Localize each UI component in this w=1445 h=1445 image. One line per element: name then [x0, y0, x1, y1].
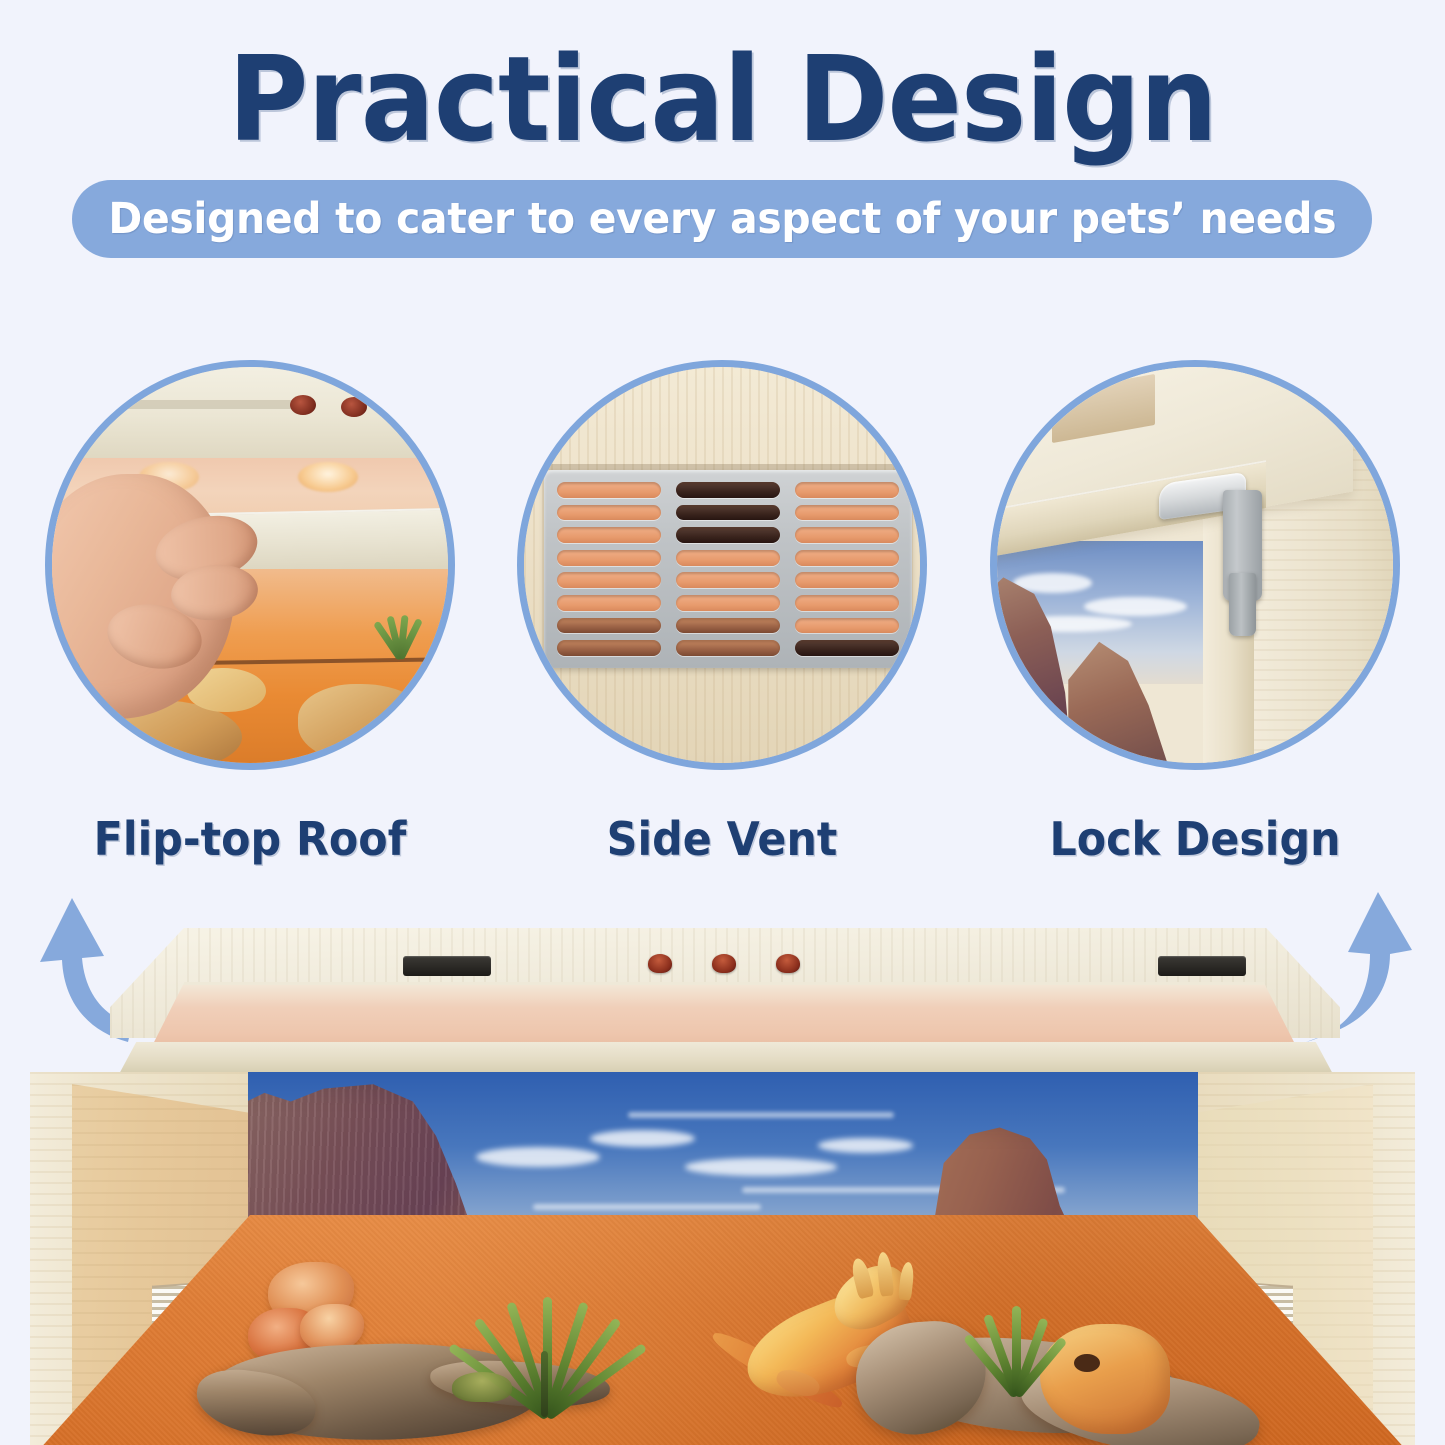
feature-circle-lock-design [990, 360, 1400, 770]
vent-plate [544, 470, 912, 668]
subtitle-text: Designed to cater to every aspect of you… [108, 194, 1336, 244]
vent-row [557, 550, 899, 566]
indicator-light [776, 954, 800, 973]
feature-circle-side-vent [517, 360, 927, 770]
lock-latch-hook [1229, 573, 1257, 636]
subtitle-banner: Designed to cater to every aspect of you… [72, 180, 1372, 258]
heat-lamp-icon [298, 462, 358, 492]
lid-top-surface [52, 367, 448, 462]
circle-frame-side-vent [517, 360, 927, 770]
circle-frame-lock-design [990, 360, 1400, 770]
feature-caption-flip-top-roof: Flip-top Roof [59, 812, 440, 866]
cloud [590, 1130, 695, 1147]
lid-hinge [1158, 956, 1246, 976]
feature-circle-flip-top-roof [45, 360, 455, 770]
cloud [685, 1158, 837, 1175]
vent-row [557, 572, 899, 588]
page-title: Practical Design [51, 38, 1395, 162]
photo-side-vent [524, 367, 920, 763]
rock-decor [298, 684, 433, 763]
infographic-page: Practical Design Designed to cater to ev… [0, 0, 1445, 1445]
cirrus-cloud [628, 1112, 894, 1118]
plant-decor [362, 589, 432, 659]
indicator-dot [341, 397, 367, 417]
indicator-light [648, 954, 672, 973]
vent-row [557, 618, 899, 634]
photo-flip-top-roof [52, 367, 448, 763]
product-photo [0, 920, 1445, 1445]
vent-row [557, 640, 899, 656]
vent-row [557, 527, 899, 543]
indicator-light [712, 954, 736, 973]
vent-row [557, 505, 899, 521]
lizard-eye [1074, 1354, 1100, 1372]
feature-caption-lock-design: Lock Design [1004, 812, 1385, 866]
enclosure-body [0, 1072, 1445, 1445]
vent-row [557, 482, 899, 498]
cloud [476, 1147, 600, 1167]
dragon-spike [898, 1261, 915, 1300]
feature-circles [0, 360, 1445, 780]
cloud [818, 1138, 913, 1152]
lid-front-edge [118, 1042, 1334, 1076]
lid-hinge [403, 956, 491, 976]
circle-frame-flip-top-roof [45, 360, 455, 770]
cirrus-cloud [533, 1204, 761, 1210]
sage-bush [452, 1372, 512, 1402]
feature-caption-side-vent: Side Vent [531, 812, 912, 866]
photo-lock-design [997, 367, 1393, 763]
vent-row [557, 595, 899, 611]
indicator-dot [290, 395, 316, 415]
spiky-plant [952, 1286, 1072, 1396]
lid-inner-rim [150, 982, 1298, 1050]
